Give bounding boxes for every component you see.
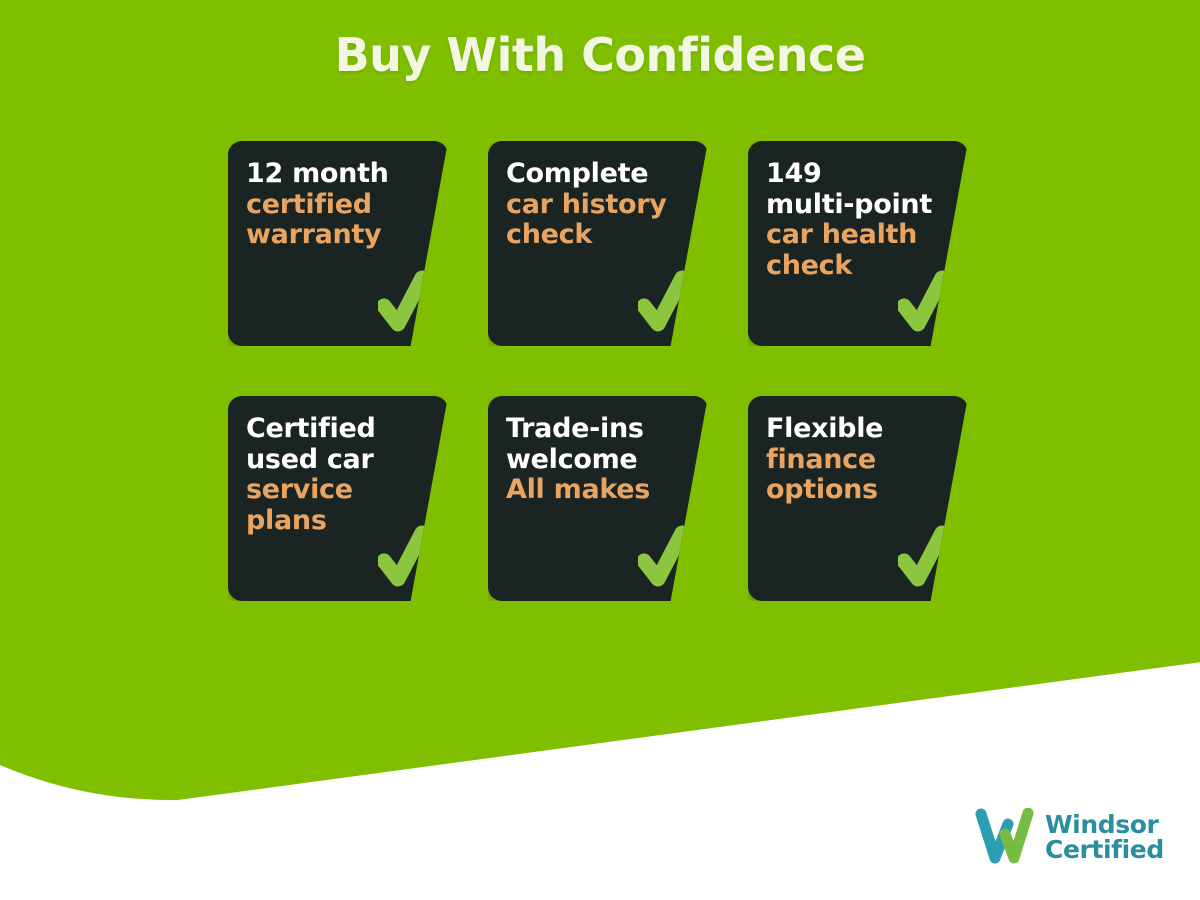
benefit-card-149-multi-point-car-health-check[interactable]: 149 multi-point car health check: [748, 141, 968, 346]
card-line-accent: car health: [766, 220, 942, 251]
card-line-accent: certified: [246, 190, 422, 221]
benefits-card-grid: 12 month certified warranty Complete car…: [228, 141, 978, 651]
card-line-accent: check: [506, 220, 682, 251]
card-line-white: Complete: [506, 159, 682, 190]
logo-line-2: Certified: [1045, 837, 1164, 863]
benefit-card-trade-ins-welcome-all-makes[interactable]: Trade-ins welcome All makes: [488, 396, 708, 601]
windsor-w-icon: [975, 808, 1037, 866]
card-text: Certified used car service plans: [246, 414, 422, 536]
benefit-card-flexible-finance-options[interactable]: Flexible finance options: [748, 396, 968, 601]
check-icon: [898, 523, 950, 591]
logo-line-1: Windsor: [1045, 812, 1164, 838]
windsor-certified-logo[interactable]: Windsor Certified: [975, 808, 1164, 866]
benefit-card-complete-car-history-check[interactable]: Complete car history check: [488, 141, 708, 346]
card-line-accent: warranty: [246, 220, 422, 251]
card-text: Flexible finance options: [766, 414, 942, 506]
benefit-card-certified-used-car-service-plans[interactable]: Certified used car service plans: [228, 396, 448, 601]
benefit-card-12-month-certified-warranty[interactable]: 12 month certified warranty: [228, 141, 448, 346]
card-text: 149 multi-point car health check: [766, 159, 942, 281]
card-line-accent: car history: [506, 190, 682, 221]
card-line-white: Trade-ins: [506, 414, 682, 445]
card-line-white: used car: [246, 445, 422, 476]
card-row-bottom: Certified used car service plans Trade-i…: [228, 396, 978, 601]
card-line-white: Flexible: [766, 414, 942, 445]
check-icon: [898, 268, 950, 336]
card-line-white: Certified: [246, 414, 422, 445]
card-line-white: 149: [766, 159, 942, 190]
page-title: Buy With Confidence: [0, 28, 1200, 82]
card-line-accent: service: [246, 475, 422, 506]
card-text: 12 month certified warranty: [246, 159, 422, 251]
card-line-white: multi-point: [766, 190, 942, 221]
check-icon: [638, 268, 690, 336]
card-row-top: 12 month certified warranty Complete car…: [228, 141, 978, 346]
card-line-white: welcome: [506, 445, 682, 476]
card-line-white: 12 month: [246, 159, 422, 190]
logo-text: Windsor Certified: [1045, 812, 1164, 863]
card-text: Trade-ins welcome All makes: [506, 414, 682, 506]
card-text: Complete car history check: [506, 159, 682, 251]
check-icon: [378, 523, 430, 591]
check-icon: [378, 268, 430, 336]
card-line-accent: finance: [766, 445, 942, 476]
card-line-accent: options: [766, 475, 942, 506]
card-line-accent: All makes: [506, 475, 682, 506]
check-icon: [638, 523, 690, 591]
